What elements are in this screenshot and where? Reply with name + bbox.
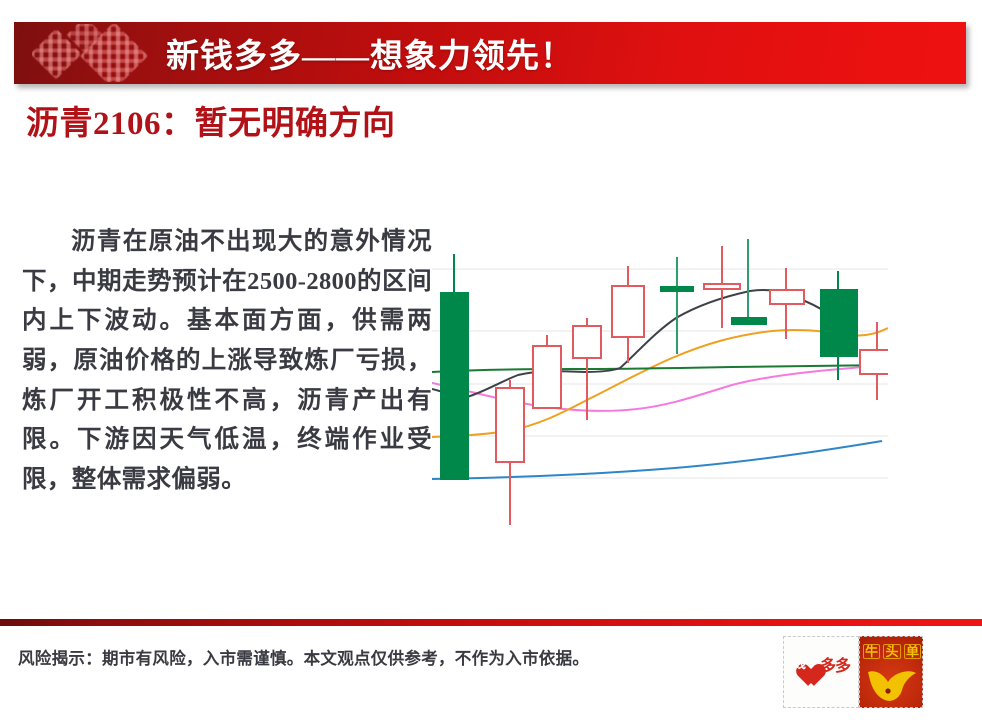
candle-0 — [441, 254, 468, 480]
header-title: 新钱多多——想象力领先！ — [166, 29, 574, 77]
body-paragraph: 沥青在原油不出现大的意外情况下，中期走势预计在2500-2800的区间内上下波动… — [22, 222, 432, 500]
candle-6 — [704, 246, 740, 328]
niutoudan-stamp: 牛 头 单 — [859, 636, 923, 708]
candle-8 — [770, 268, 804, 339]
candle-7 — [732, 239, 766, 324]
footer-logos: 钱 多多 牛 头 单 — [783, 636, 923, 708]
ntd-char-2: 头 — [883, 644, 900, 659]
chart-svg — [432, 208, 888, 534]
candle-9 — [821, 271, 857, 380]
risk-disclaimer: 风险揭示：期市有风险，入市需谨慎。本文观点仅供参考，不作为入市依据。 — [18, 645, 758, 669]
qianduoduo-stamp: 钱 多多 — [783, 636, 859, 708]
candle-series — [441, 239, 888, 525]
candle-2 — [533, 335, 561, 408]
chinese-knot-logo — [32, 24, 164, 82]
qdd-text: 多多 — [820, 659, 850, 675]
header-banner: 新钱多多——想象力领先！ — [14, 22, 966, 84]
page-title: 沥青2106：暂无明确方向 — [26, 101, 434, 148]
candle-5 — [661, 257, 693, 354]
qdd-heart-char: 钱 — [793, 657, 806, 670]
ntd-title: 牛 头 单 — [863, 644, 921, 659]
ntd-char-3: 单 — [904, 644, 921, 659]
footer-divider — [0, 619, 982, 626]
candlestick-chart — [432, 208, 888, 534]
bull-head-icon — [866, 666, 918, 704]
ntd-char-1: 牛 — [863, 644, 880, 659]
candle-1 — [496, 380, 524, 525]
